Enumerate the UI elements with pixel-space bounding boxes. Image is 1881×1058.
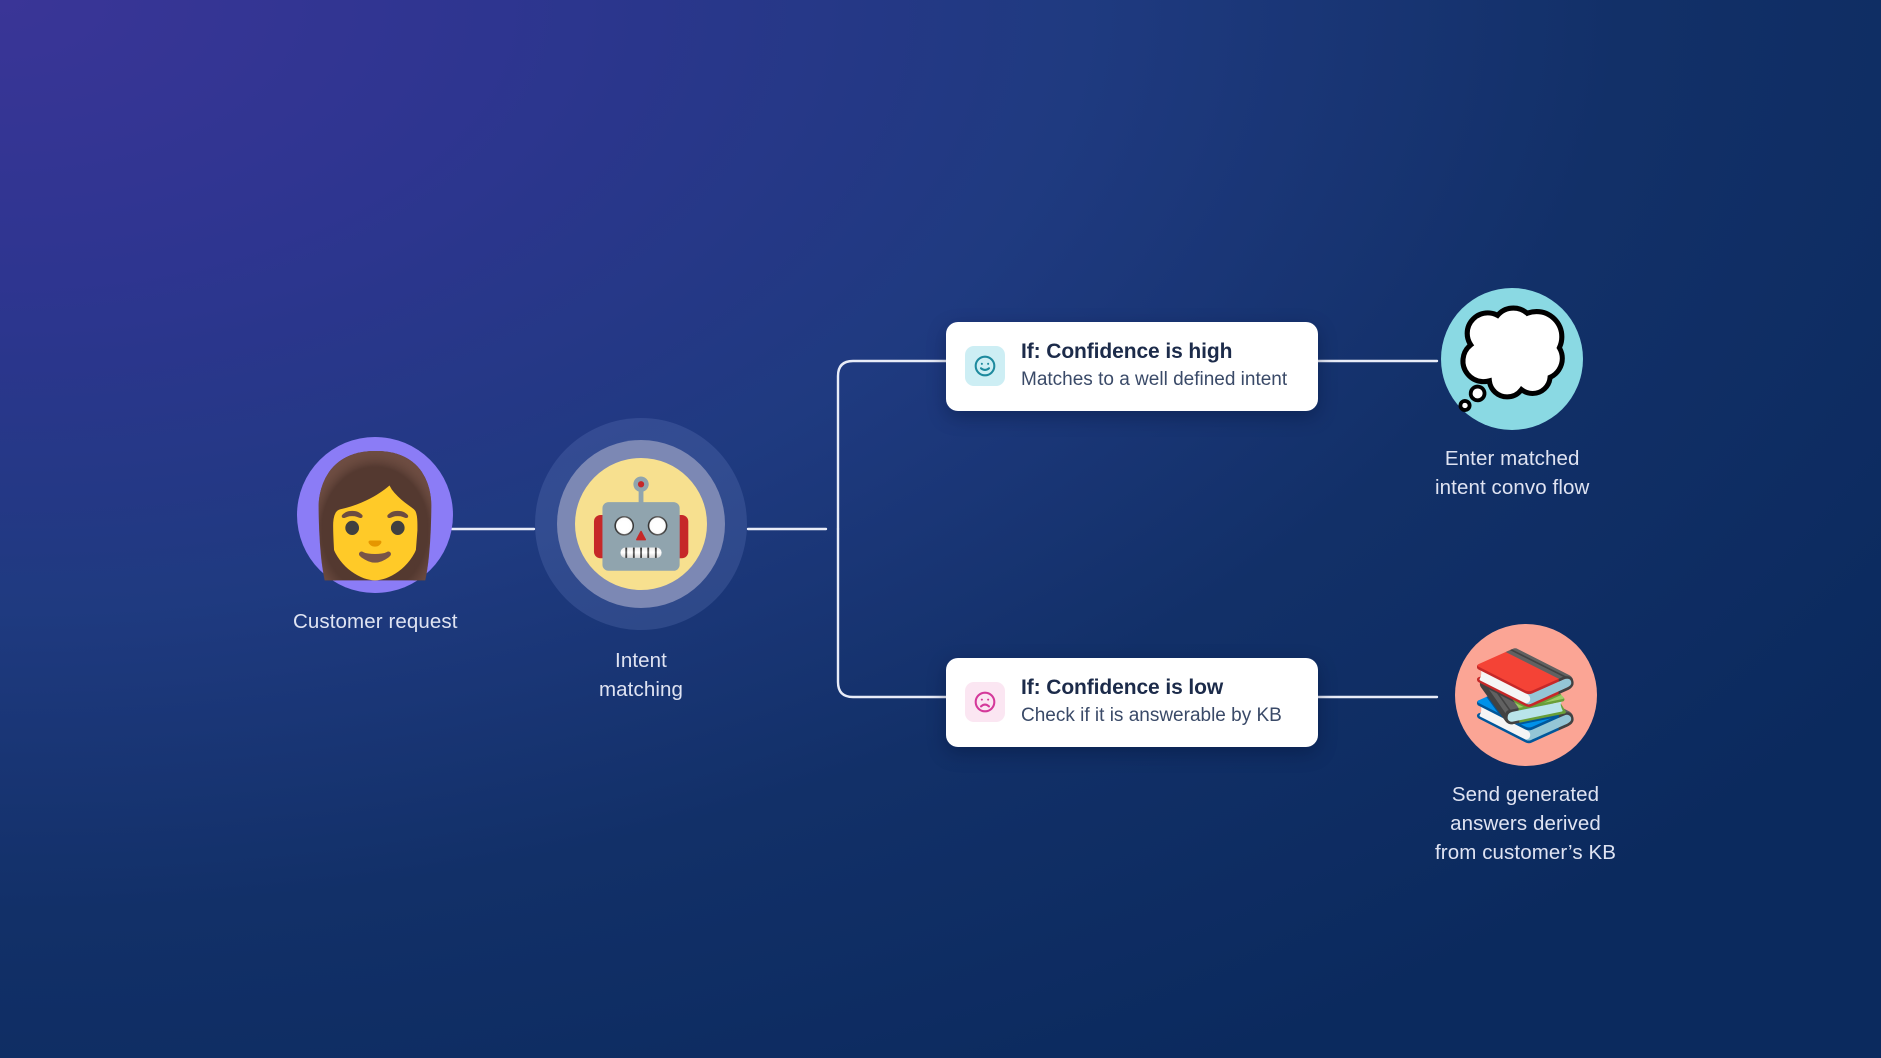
thought-balloon-icon: 💭 bbox=[1455, 313, 1570, 405]
card-confidence-high[interactable]: If: Confidence is high Matches to a well… bbox=[946, 322, 1318, 411]
customer-avatar-circle: 👩 bbox=[297, 437, 453, 593]
node-intent-matching[interactable]: 🤖 Intent matching bbox=[535, 418, 747, 704]
woman-memoji-avatar-icon: 👩 bbox=[302, 456, 449, 574]
wire-branch-low bbox=[838, 529, 946, 697]
card-confidence-high-title: If: Confidence is high bbox=[1021, 339, 1287, 365]
card-confidence-low[interactable]: If: Confidence is low Check if it is ans… bbox=[946, 658, 1318, 747]
robot-face-icon: 🤖 bbox=[587, 481, 694, 567]
wire-branch-high bbox=[838, 361, 946, 529]
card-confidence-low-title: If: Confidence is low bbox=[1021, 675, 1282, 701]
node-outcome-matched-intent-label: Enter matched intent convo flow bbox=[1435, 444, 1589, 502]
intent-halo-ring: 🤖 bbox=[535, 418, 747, 630]
outcome-low-circle: 📚 bbox=[1455, 624, 1597, 766]
smiling-face-icon bbox=[965, 346, 1005, 386]
node-intent-matching-label: Intent matching bbox=[599, 646, 683, 704]
card-confidence-high-subtitle: Matches to a well defined intent bbox=[1021, 368, 1287, 393]
diagram-canvas: 👩 Customer request 🤖 Intent matching If:… bbox=[0, 0, 1881, 1058]
connector-lines bbox=[0, 0, 1881, 1058]
intent-outer-ring: 🤖 bbox=[557, 440, 725, 608]
node-outcome-kb-answer[interactable]: 📚 Send generated answers derived from cu… bbox=[1435, 624, 1616, 867]
intent-core-circle: 🤖 bbox=[575, 458, 707, 590]
node-outcome-kb-answer-label: Send generated answers derived from cust… bbox=[1435, 780, 1616, 867]
books-icon: 📚 bbox=[1471, 651, 1581, 739]
card-confidence-high-text: If: Confidence is high Matches to a well… bbox=[1021, 339, 1287, 392]
node-customer-request-label: Customer request bbox=[293, 607, 458, 636]
card-confidence-low-subtitle: Check if it is answerable by KB bbox=[1021, 704, 1282, 729]
outcome-high-circle: 💭 bbox=[1441, 288, 1583, 430]
node-outcome-matched-intent[interactable]: 💭 Enter matched intent convo flow bbox=[1435, 288, 1589, 502]
card-confidence-low-text: If: Confidence is low Check if it is ans… bbox=[1021, 675, 1282, 728]
frowning-face-icon bbox=[965, 682, 1005, 722]
node-customer-request[interactable]: 👩 Customer request bbox=[293, 437, 458, 636]
